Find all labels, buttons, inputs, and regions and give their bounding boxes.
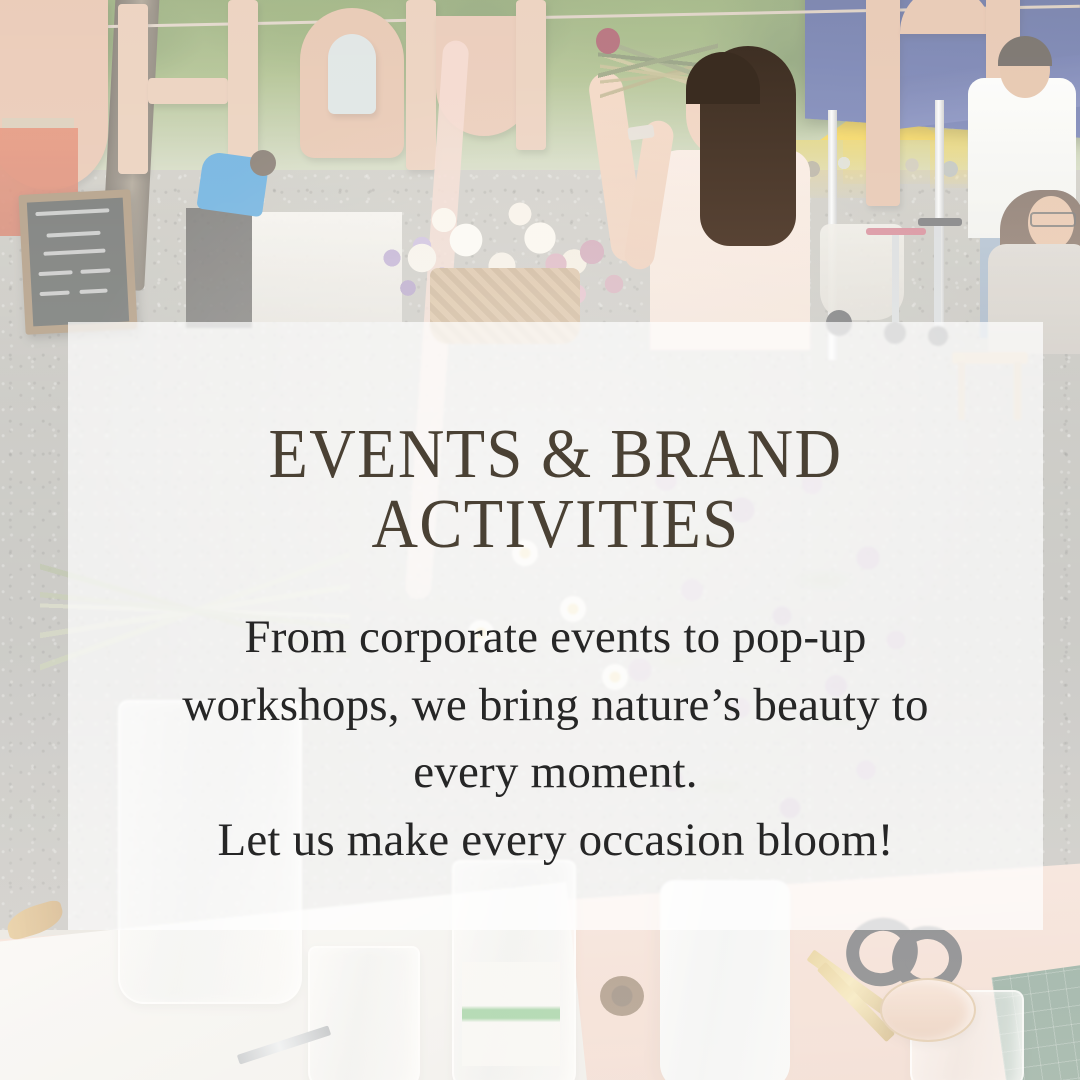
body-line: every moment. (104, 739, 1007, 807)
body-line: From corporate events to pop-up (104, 604, 1007, 672)
cardboard-letter (228, 0, 258, 175)
bottle-label (462, 962, 560, 1066)
draped-stall-table (186, 208, 252, 328)
red-rose-bloom (596, 28, 620, 54)
scooter-stem (934, 222, 941, 330)
cardboard-letter (148, 78, 228, 104)
vendor-person-head (250, 150, 276, 176)
cardboard-letter (406, 0, 436, 170)
cardboard-letter (900, 0, 992, 34)
glass-jar (308, 946, 420, 1080)
cardboard-letter (516, 0, 546, 150)
cardboard-letter (866, 0, 900, 206)
chalkboard-a-frame-sign (18, 189, 137, 335)
cardboard-letter (118, 4, 148, 174)
text-overlay-panel: EVENTS & BRAND ACTIVITIES From corporate… (68, 322, 1043, 930)
scooter-handlebar (918, 218, 962, 226)
body-line: workshops, we bring nature’s beauty to (104, 672, 1007, 740)
scooter-handlebar (866, 228, 926, 235)
cardboard-letter-counter (328, 34, 376, 114)
scooter-stem (892, 232, 899, 328)
poster-canvas: EVENTS & BRAND ACTIVITIES From corporate… (0, 0, 1080, 1080)
twine-spool (566, 946, 682, 1062)
eyeglasses (1030, 212, 1076, 227)
page-title: EVENTS & BRAND ACTIVITIES (107, 420, 1004, 560)
body-copy: From corporate events to pop-up workshop… (68, 604, 1043, 875)
body-line: Let us make every occasion bloom! (104, 807, 1007, 875)
metal-jar-lid (880, 978, 976, 1042)
